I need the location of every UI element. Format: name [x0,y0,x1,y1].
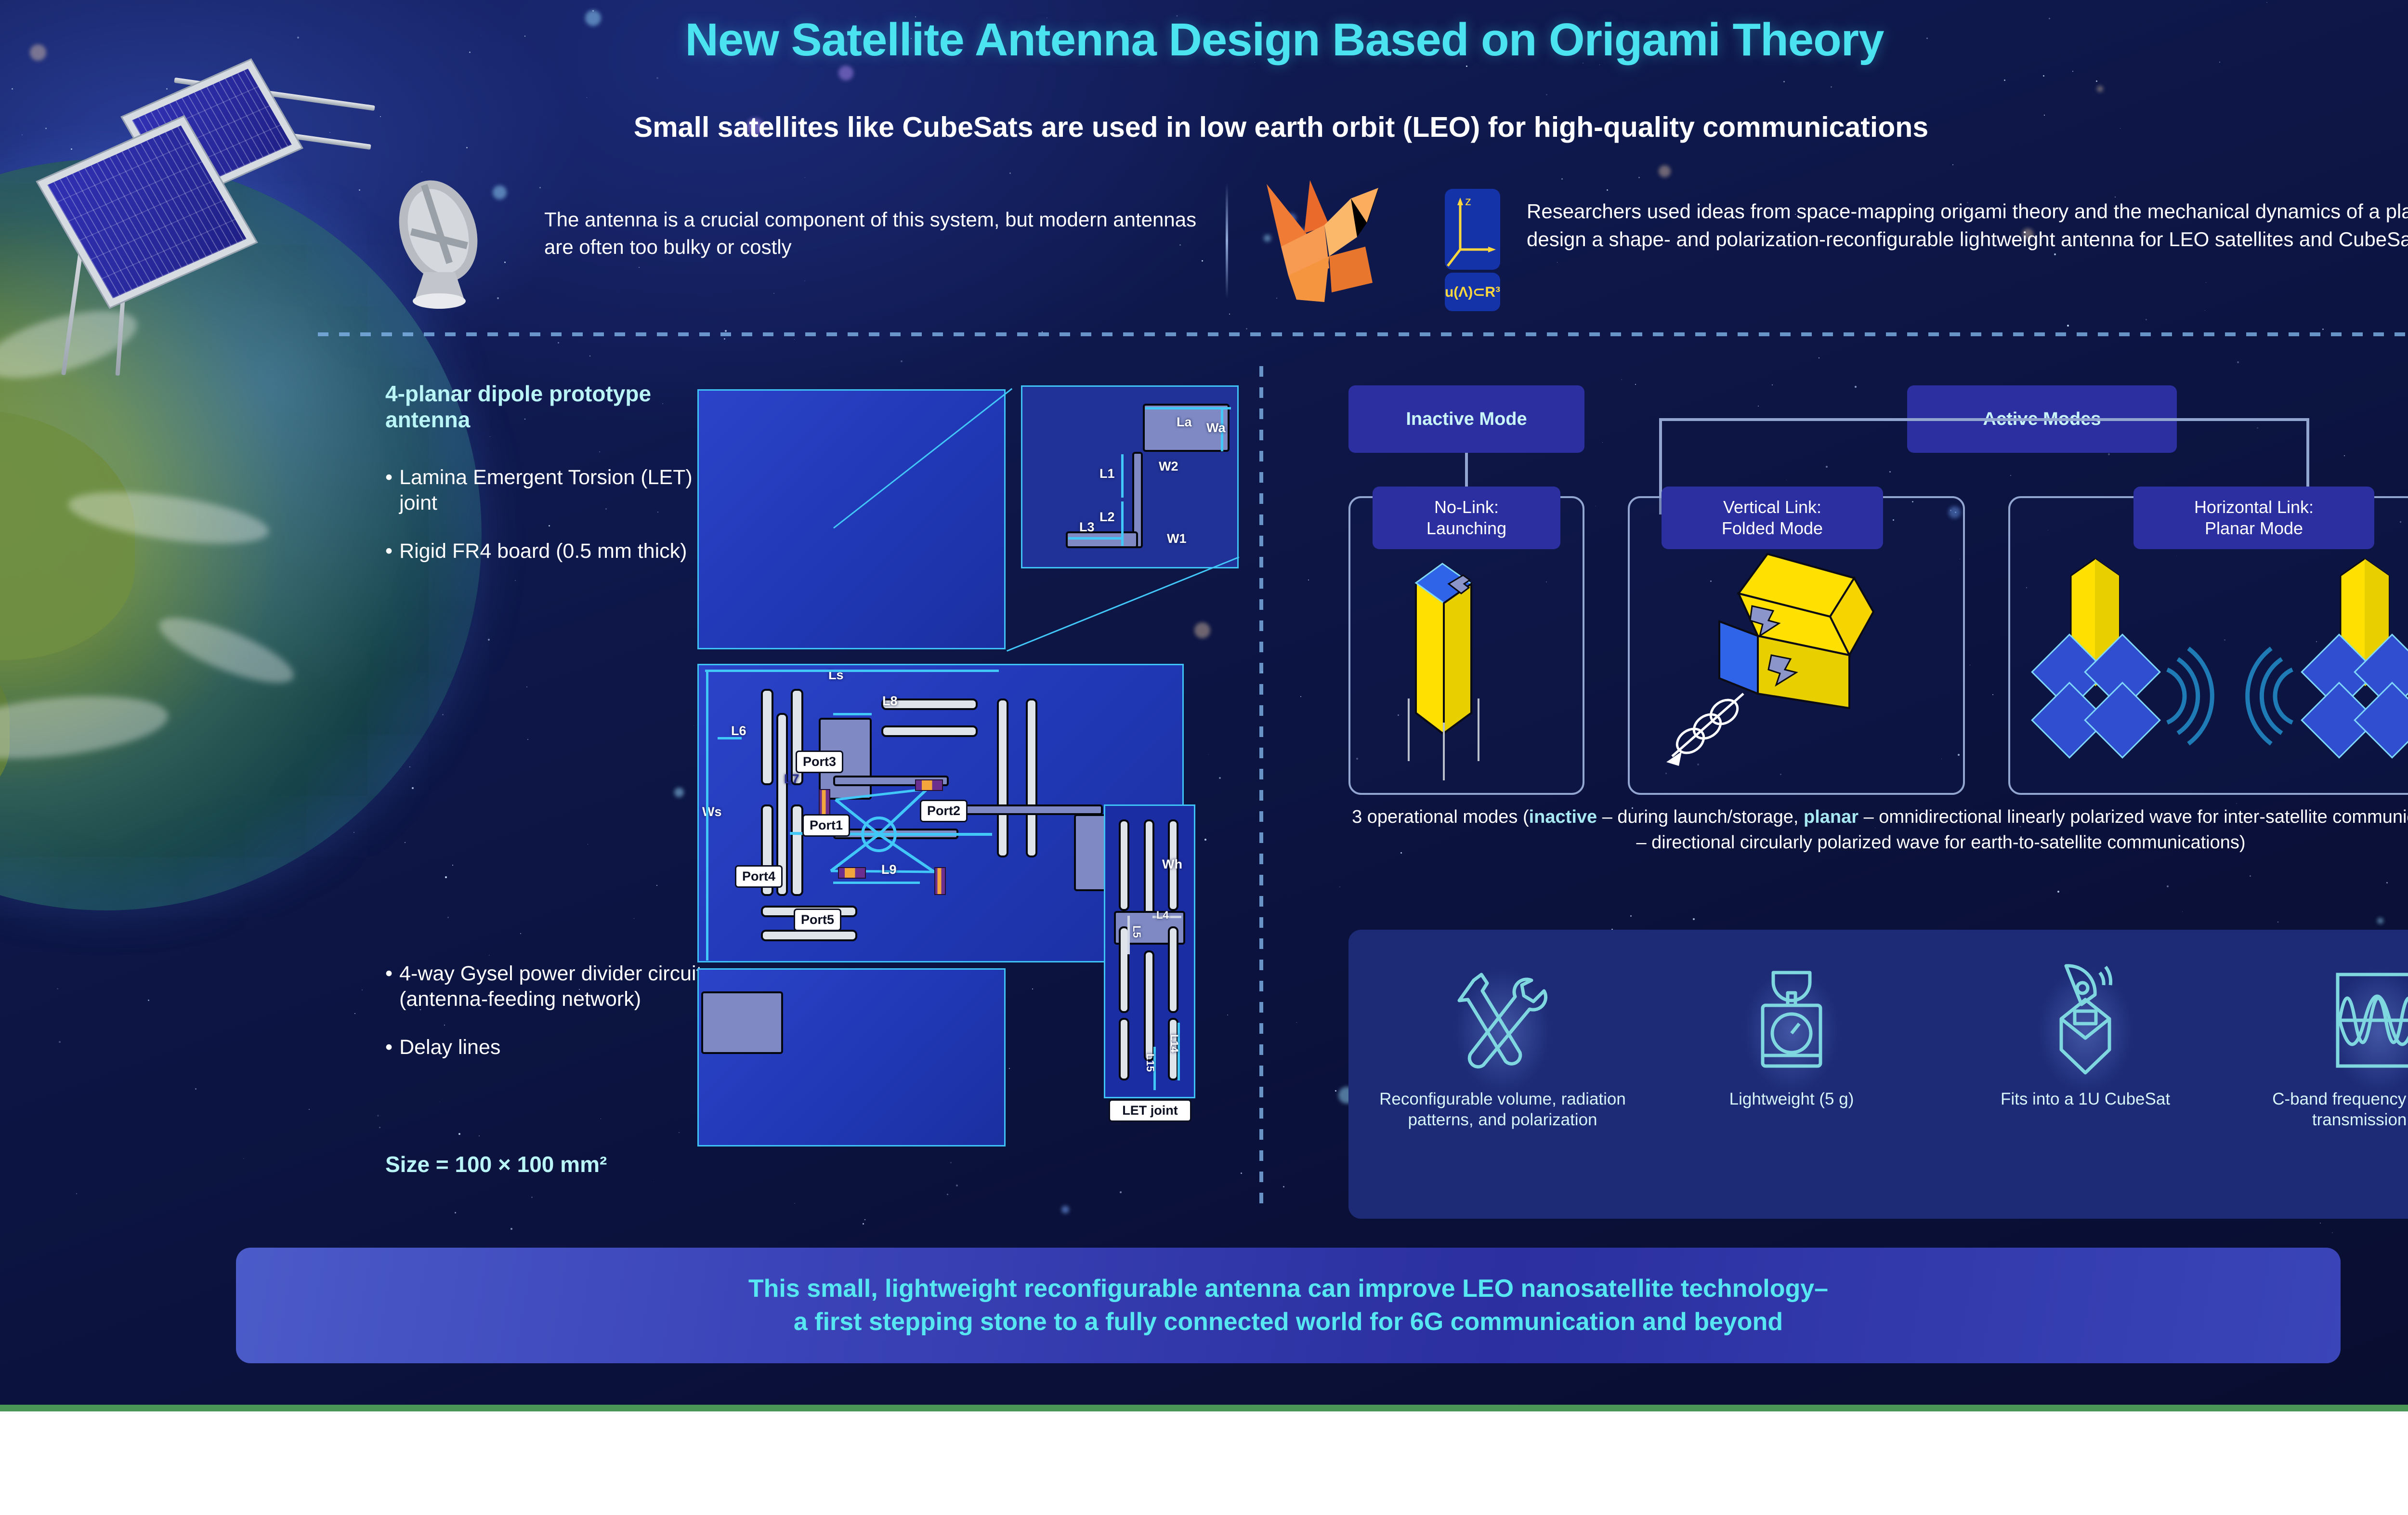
dim-label-L5: L5 [1130,925,1143,938]
card-title-vertical-link: Vertical Link: Folded Mode [1662,487,1883,549]
infographic-canvas: New Satellite Antenna Design Based on Or… [0,0,2408,1515]
waveform-icon [2244,959,2408,1084]
footer: Origami-Inspired Radiation Pattern and S… [0,1411,2408,1515]
feature-reconfigurable: Reconfigurable volume, radiation pattern… [1368,959,1637,1131]
list-item-label: Rigid FR4 board (0.5 mm thick) [399,539,687,564]
card-title-line2: Launching [1426,518,1506,538]
feature-lightweight: Lightweight (5 g) [1657,959,1926,1109]
feed-pad [701,991,783,1054]
dim-label-Ws: Ws [702,804,722,819]
modes-desc-part: – during launch/storage, [1597,807,1804,827]
left-panel-heading: 4-planar dipole prototype antenna [385,381,684,433]
intro-right-text: Researchers used ideas from space-mappin… [1527,198,2408,253]
port-label-port1: Port1 [802,814,850,837]
dim-label-W1: W1 [1167,531,1187,546]
card-title-line2: Planar Mode [2205,518,2303,538]
list-item: • Delay lines [385,1035,703,1060]
antenna-layout-diagram: La Wa L1 L2 L3 W1 W2 Ls Ws [689,381,1247,1214]
dim-label-W2: W2 [1159,459,1178,474]
let-joint-inset: Wh L4 L5 L14 L15 [1104,804,1195,1098]
port-label-port3: Port3 [796,751,843,773]
dim-label-Wa: Wa [1206,421,1226,435]
card-title-horizontal-link: Horizontal Link: Planar Mode [2133,487,2374,549]
port-label-port4: Port4 [735,865,783,888]
horizontal-dashed-separator [318,332,2408,336]
list-item-label: 4-way Gysel power divider circuit (anten… [399,961,703,1013]
cubesat-icon [1950,959,2220,1084]
connector-active-horizontal [1659,418,2309,421]
card-title-line2: Folded Mode [1722,518,1823,538]
intro-left-text: The antenna is a crucial component of th… [544,206,1218,261]
antenna-size-label: Size = 100 × 100 mm² [385,1151,607,1177]
list-item: • Lamina Emergent Torsion (LET) joint [385,465,703,516]
node-inactive-mode: Inactive Mode [1348,385,1584,453]
vertical-dotted-separator [1259,366,1263,1214]
page-title: New Satellite Antenna Design Based on Or… [0,13,2408,66]
tools-icon [1368,959,1637,1084]
list-item: • Rigid FR4 board (0.5 mm thick) [385,539,703,564]
modes-desc-part: 3 operational modes ( [1352,807,1529,827]
dim-label-L4: L4 [1156,909,1169,922]
joint-arm [1119,819,1129,911]
dimension-inset-top: La Wa L1 L2 L3 W1 W2 [1021,385,1239,568]
dim-label-L15: L15 [1144,1054,1156,1072]
bullet-dot: • [385,539,393,564]
list-item: • 4-way Gysel power divider circuit (ant… [385,961,703,1013]
card-title-line1: Horizontal Link: [2194,497,2314,517]
joint-arm [1119,1018,1129,1080]
svg-text:z: z [1465,194,1471,208]
bullet-dot: • [385,465,393,516]
list-item-label: Lamina Emergent Torsion (LET) joint [399,465,703,516]
feature-strip: Reconfigurable volume, radiation pattern… [1348,930,2408,1219]
dim-label-L1: L1 [1099,466,1115,481]
conclusion-text: This small, lightweight reconfigurable a… [748,1272,1828,1338]
dim-label-L2: L2 [1099,510,1115,525]
chip-resistor [838,867,866,879]
arm-foot [1066,531,1138,548]
scale-icon [1657,959,1926,1084]
dipole-arm [761,689,773,785]
modes-desc-inactive: inactive [1529,807,1597,827]
formula-chip: u(Λ)⊂R³ [1445,273,1500,311]
feature-caption: C-band frequency (high data transmission… [2244,1089,2408,1131]
port-label-port2: Port2 [920,800,968,822]
origami-crane-icon [1252,179,1411,309]
left-bullet-list-top: • Lamina Emergent Torsion (LET) joint • … [385,465,703,586]
planar-mode-illustration [2023,549,2408,790]
dipole-arm [1026,698,1037,857]
dim-label-L8: L8 [882,694,898,709]
feature-cband: C-band frequency (high data transmission… [2244,959,2408,1131]
modes-desc-planar: planar [1804,807,1858,827]
axes-icon: z [1445,189,1500,270]
conclusion-line2: a first stepping stone to a fully connec… [794,1308,1783,1336]
modes-desc-part: – omnidirectional linearly polarized wav… [1858,807,2408,827]
joint-arm [1144,950,1154,1061]
conclusion-line1: This small, lightweight reconfigurable a… [748,1275,1828,1303]
bullet-dot: • [385,961,393,1013]
dipole-arm [997,698,1008,857]
dim-label-L9: L9 [881,862,897,877]
folded-mode-illustration [1647,549,1946,790]
feature-cubesat: Fits into a 1U CubeSat [1950,959,2220,1109]
modes-description: 3 operational modes (inactive – during l… [1348,804,2408,856]
feed-pad [1074,814,1108,891]
inactive-mode-illustration [1387,554,1546,785]
port-label-port5: Port5 [794,909,841,931]
conclusion-banner: This small, lightweight reconfigurable a… [236,1248,2341,1363]
dim-label-L7: L7 [784,772,799,787]
joint-arm [1168,926,1178,1013]
bullet-dot: • [385,1035,393,1060]
chip-resistor [915,779,943,791]
dim-label-L14: L14 [1168,1034,1180,1053]
list-item-label: Delay lines [399,1035,500,1060]
chip-resistor [934,867,946,895]
dim-label-La: La [1177,415,1192,430]
dim-label-Wh: Wh [1162,857,1182,872]
chip-resistor [819,789,830,817]
dipole-arm [761,930,857,941]
left-bullet-list-bottom: • 4-way Gysel power divider circuit (ant… [385,961,703,1082]
dim-label-L3: L3 [1079,520,1095,535]
card-title-line1: No-Link: [1434,497,1499,517]
feature-caption: Reconfigurable volume, radiation pattern… [1368,1089,1637,1131]
dim-label-L6: L6 [731,724,746,738]
dipole-arm [881,725,978,737]
intro-divider [1226,183,1228,299]
card-title-no-link: No-Link: Launching [1373,487,1560,549]
modes-desc-part: – directional circularly polarized wave … [1636,832,2245,853]
port-star-connector [790,761,992,920]
satellite-dish-icon [366,173,520,318]
card-title-line1: Vertical Link: [1723,497,1821,517]
let-joint-caption: LET joint [1109,1099,1191,1122]
page-subtitle: Small satellites like CubeSats are used … [270,111,2292,144]
